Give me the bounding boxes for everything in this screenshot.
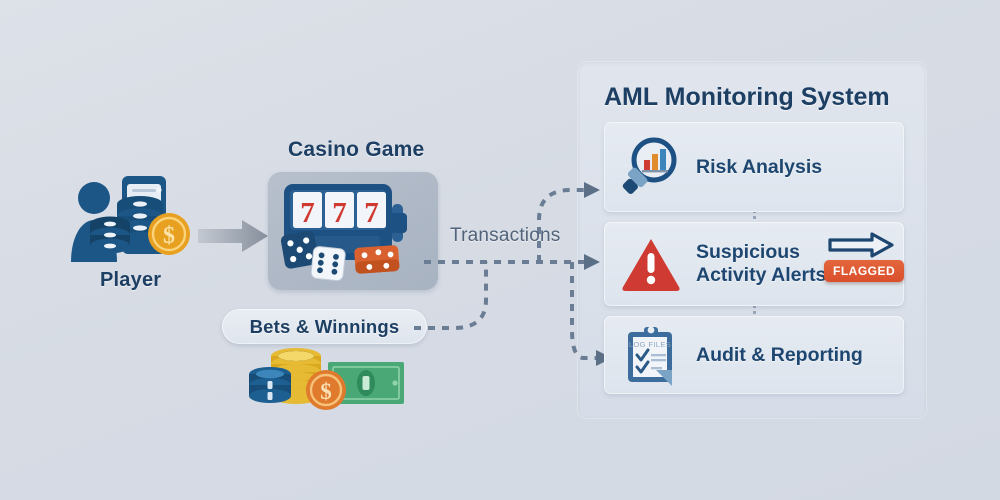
transactions-label: Transactions <box>450 225 560 247</box>
money-icon: $ <box>248 348 408 410</box>
right-arrow-outline-icon <box>828 232 894 258</box>
bets-winnings-pill[interactable]: Bets & Winnings <box>222 309 427 344</box>
panel-title: AML Monitoring System <box>604 83 890 112</box>
svg-text:$: $ <box>163 223 175 249</box>
clipboard-header-text: LOG FILES <box>629 340 671 349</box>
status-badge-flagged: FLAGGED <box>824 260 904 282</box>
card-separator-2 <box>753 305 756 314</box>
slot-reel-1: 7 <box>300 197 315 229</box>
magnifier-bar-chart-icon <box>620 136 682 198</box>
player-icon: $ <box>70 170 190 270</box>
card-label-audit-reporting: Audit & Reporting <box>696 344 863 367</box>
arrowhead-alerts <box>584 254 600 270</box>
transactions-connector-group <box>424 150 604 370</box>
aml-card-risk-analysis[interactable]: Risk Analysis <box>604 122 904 212</box>
slot-reel-3: 7 <box>364 197 379 229</box>
bets-winnings-label: Bets & Winnings <box>250 316 400 338</box>
arrowhead-risk <box>584 182 600 198</box>
card-label-line1: Suspicious <box>696 241 826 264</box>
casino-game-label: Casino Game <box>288 138 424 162</box>
card-label-line2: Activity Alerts <box>696 264 826 287</box>
slot-machine-icon: 7 7 7 <box>276 180 431 285</box>
aml-card-audit-reporting[interactable]: LOG FILES Audit & Reporting <box>604 316 904 394</box>
player-label: Player <box>100 269 161 292</box>
player-to-casino-arrow <box>198 218 270 254</box>
warning-triangle-icon <box>620 233 682 295</box>
slot-reel-2: 7 <box>332 197 347 229</box>
clipboard-checklist-icon: LOG FILES <box>620 324 682 386</box>
diagram-canvas: AML Monitoring System <box>0 0 1000 500</box>
svg-text:$: $ <box>320 379 332 404</box>
card-label-suspicious-activity-alerts: Suspicious Activity Alerts <box>696 241 826 287</box>
card-label-risk-analysis: Risk Analysis <box>696 156 822 179</box>
